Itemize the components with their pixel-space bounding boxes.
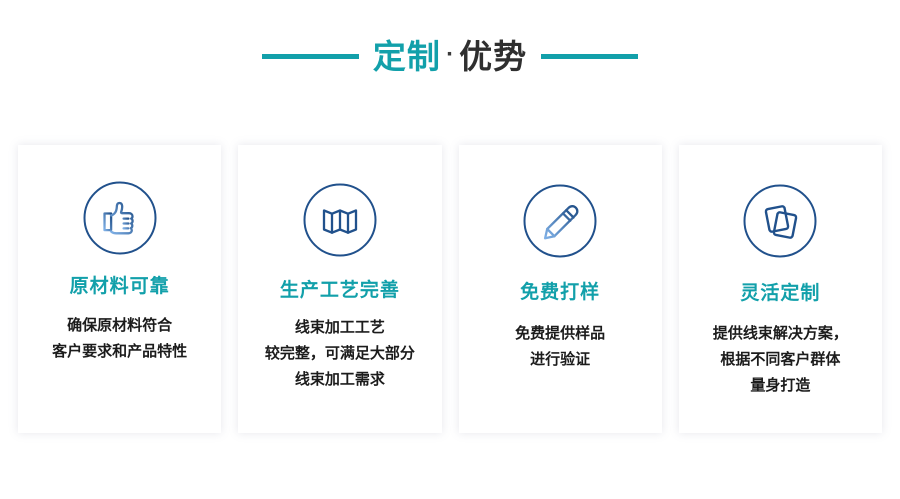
feature-card-description-line: 提供线束解决方案， xyxy=(713,320,848,346)
feature-card-description-line: 客户要求和产品特性 xyxy=(52,338,187,364)
feature-card-description: 线束加工工艺 较完整，可满足大部分 线束加工需求 xyxy=(265,314,415,392)
feature-card-description-line: 较完整，可满足大部分 xyxy=(265,340,415,366)
feature-card[interactable]: 灵活定制 提供线束解决方案， 根据不同客户群体 量身打造 xyxy=(679,145,882,433)
feature-card-title: 原材料可靠 xyxy=(70,277,170,296)
feature-card-description-line: 线束加工需求 xyxy=(265,366,415,392)
feature-card-description: 提供线束解决方案， 根据不同客户群体 量身打造 xyxy=(713,320,848,398)
folded-map-icon xyxy=(301,181,379,259)
feature-card-row: 原材料可靠 确保原材料符合 客户要求和产品特性 生产工艺完善 线束加工工艺 较完… xyxy=(18,145,882,433)
heading-rule-right xyxy=(541,54,638,59)
feature-card-description: 免费提供样品 进行验证 xyxy=(515,320,605,372)
page-title: 定制 · 优势 xyxy=(373,40,527,73)
feature-card[interactable]: 生产工艺完善 线束加工工艺 较完整，可满足大部分 线束加工需求 xyxy=(238,145,441,433)
feature-card-description-line: 进行验证 xyxy=(515,346,605,372)
feature-card-description-line: 根据不同客户群体 xyxy=(713,346,848,372)
thumbs-up-icon xyxy=(81,179,159,257)
feature-card-description-line: 量身打造 xyxy=(713,372,848,398)
feature-card[interactable]: 原材料可靠 确保原材料符合 客户要求和产品特性 xyxy=(18,145,221,433)
feature-card-description-line: 确保原材料符合 xyxy=(52,312,187,338)
feature-card-title: 灵活定制 xyxy=(740,284,820,303)
section-heading: 定制 · 优势 xyxy=(0,30,900,82)
page-title-accent: 定制 xyxy=(373,40,441,73)
page-title-plain: 优势 xyxy=(459,40,527,73)
heading-rule-left xyxy=(262,54,359,59)
pencil-icon xyxy=(521,182,599,260)
feature-card-description-line: 免费提供样品 xyxy=(515,320,605,346)
feature-card-title: 免费打样 xyxy=(520,283,600,302)
feature-card-description-line: 线束加工工艺 xyxy=(265,314,415,340)
feature-card-title: 生产工艺完善 xyxy=(280,281,400,300)
stacked-cards-icon xyxy=(741,182,819,260)
feature-card[interactable]: 免费打样 免费提供样品 进行验证 xyxy=(459,145,662,433)
page-title-separator: · xyxy=(441,45,459,68)
feature-card-description: 确保原材料符合 客户要求和产品特性 xyxy=(52,312,187,364)
